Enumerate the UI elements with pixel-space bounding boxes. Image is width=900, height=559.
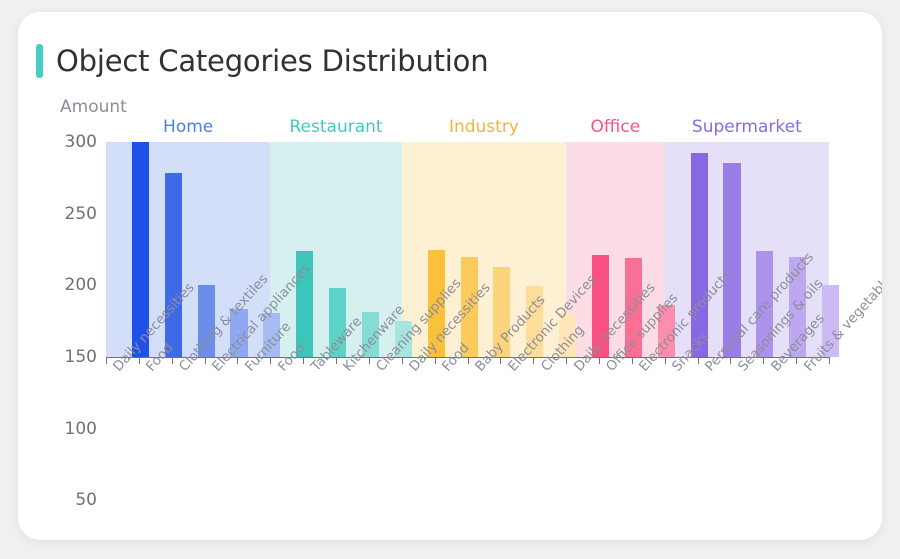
y-axis-tick-label: 250 bbox=[65, 204, 97, 224]
chart-header: Object Categories Distribution bbox=[36, 44, 488, 78]
x-axis-tick bbox=[665, 357, 666, 364]
x-axis-tick bbox=[730, 357, 731, 364]
plot-area: HomeRestaurantIndustryOfficeSupermarket … bbox=[88, 130, 881, 357]
chart-card: Object Categories Distribution Amount Ho… bbox=[18, 12, 882, 540]
group-title-restaurant: Restaurant bbox=[289, 117, 382, 137]
x-axis-tick bbox=[106, 357, 107, 364]
x-axis-tick bbox=[698, 357, 699, 364]
x-axis-tick bbox=[336, 357, 337, 364]
x-axis-tick bbox=[763, 357, 764, 364]
title-accent-bar bbox=[36, 44, 43, 78]
page-title: Object Categories Distribution bbox=[56, 44, 488, 78]
x-axis-tick bbox=[172, 357, 173, 364]
bar[interactable] bbox=[165, 173, 182, 357]
x-axis-tick bbox=[500, 357, 501, 364]
x-axis-tick bbox=[599, 357, 600, 364]
y-axis-tick-label: 200 bbox=[65, 275, 97, 295]
x-axis-tick bbox=[829, 357, 830, 364]
bar[interactable] bbox=[691, 153, 708, 357]
y-axis-tick: 300 bbox=[106, 142, 111, 143]
y-axis-tick: 50 bbox=[106, 321, 111, 322]
x-axis-tick bbox=[139, 357, 140, 364]
x-axis-tick bbox=[468, 357, 469, 364]
x-axis-tick bbox=[632, 357, 633, 364]
y-axis-tick: 250 bbox=[106, 178, 111, 179]
x-axis-tick bbox=[270, 357, 271, 364]
group-title-supermarket: Supermarket bbox=[692, 117, 802, 137]
x-axis-tick bbox=[402, 357, 403, 364]
group-title-office: Office bbox=[591, 117, 641, 137]
x-axis-tick bbox=[303, 357, 304, 364]
group-title-home: Home bbox=[163, 117, 213, 137]
y-axis-tick: 150 bbox=[106, 250, 111, 251]
x-axis-tick bbox=[566, 357, 567, 364]
y-axis-tick: 200 bbox=[106, 214, 111, 215]
y-axis-tick-label: 300 bbox=[65, 132, 97, 152]
x-axis-tick bbox=[205, 357, 206, 364]
group-title-industry: Industry bbox=[449, 117, 519, 137]
y-axis-label: Amount bbox=[60, 97, 127, 117]
x-axis-tick bbox=[533, 357, 534, 364]
y-axis-tick: 100 bbox=[106, 285, 111, 286]
x-axis-tick bbox=[435, 357, 436, 364]
x-axis-tick bbox=[237, 357, 238, 364]
x-axis-labels: Daily necessitiesFoodClothing & textiles… bbox=[18, 364, 882, 534]
x-axis-tick bbox=[796, 357, 797, 364]
x-axis-tick bbox=[369, 357, 370, 364]
